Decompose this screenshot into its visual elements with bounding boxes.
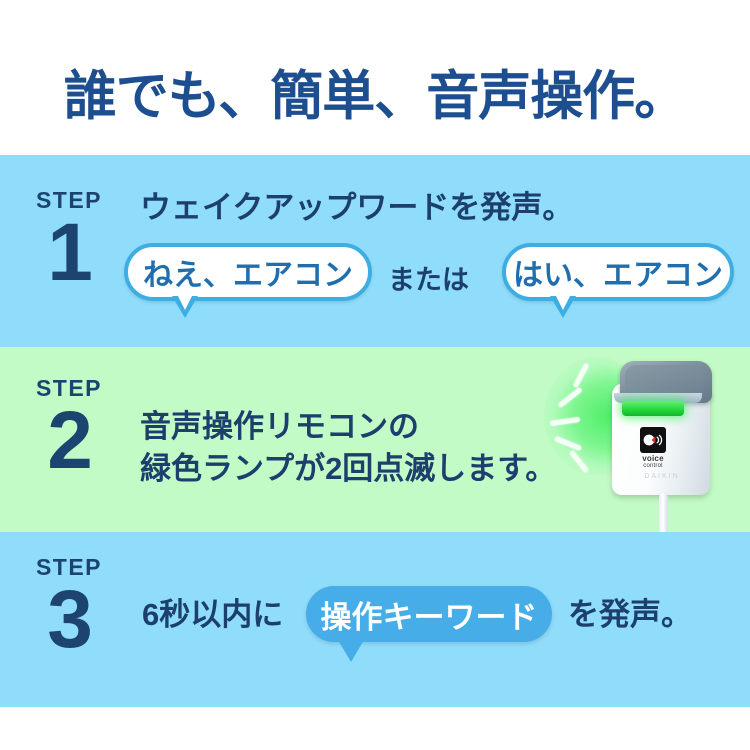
page-title: 誰でも、簡単、音声操作。: [0, 68, 750, 126]
step-number-1: 1: [18, 214, 120, 292]
badge-text: voice control: [630, 455, 676, 470]
infographic-page: 誰でも、簡単、音声操作。 STEP 1 ウェイクアップワードを発声。 ねえ、エア…: [0, 0, 750, 750]
step-1-heading: ウェイクアップワードを発声。: [140, 188, 573, 229]
step-marker-3: STEP 3: [18, 556, 120, 659]
step-band-3: STEP 3 6秒以内に 操作キーワード を発声。: [0, 532, 750, 707]
step-marker-1: STEP 1: [18, 189, 120, 292]
green-lamp-indicator: [622, 401, 684, 416]
wake-word-left-text: ねえ、エアコン: [143, 250, 353, 294]
wake-word-right-text: はい、エアコン: [513, 250, 723, 294]
step-3-suffix: を発声。: [568, 595, 692, 636]
wake-word-bubble-left: ねえ、エアコン: [124, 243, 372, 301]
device-brand-label: DAIKIN: [632, 473, 692, 480]
device-cord: [659, 493, 668, 532]
voice-remote-illustration: voice control DAIKIN: [540, 351, 750, 532]
operation-keyword-text: 操作キーワード: [321, 592, 538, 637]
voice-remote-device: voice control DAIKIN: [612, 361, 718, 501]
badge-text-line-1: voice: [630, 455, 676, 463]
step-marker-2: STEP 2: [18, 377, 120, 480]
bubble-tail-left: [172, 296, 198, 318]
step-band-1: STEP 1 ウェイクアップワードを発声。 ねえ、エアコン または はい、エアコ…: [0, 155, 750, 347]
operation-keyword-bubble: 操作キーワード: [306, 586, 552, 642]
step-number-3: 3: [18, 581, 120, 659]
step-3-prefix: 6秒以内に: [142, 595, 283, 636]
step-number-2: 2: [18, 402, 120, 480]
wake-word-bubble-right: はい、エアコン: [502, 243, 734, 301]
bubble-tail-right: [550, 296, 576, 318]
voice-control-badge-icon: [640, 427, 666, 453]
step-band-2: STEP 2 音声操作リモコンの 緑色ランプが2回点滅します。: [0, 347, 750, 532]
step-2-line-2: 緑色ランプが2回点滅します。: [140, 449, 556, 490]
step-2-line-1: 音声操作リモコンの: [140, 407, 419, 448]
bubble-tail-keyword: [338, 640, 364, 662]
speaker-sound-icon: [643, 433, 663, 447]
badge-text-line-2: control: [630, 463, 676, 469]
device-top-pad: [625, 365, 705, 393]
connector-or: または: [388, 258, 469, 297]
